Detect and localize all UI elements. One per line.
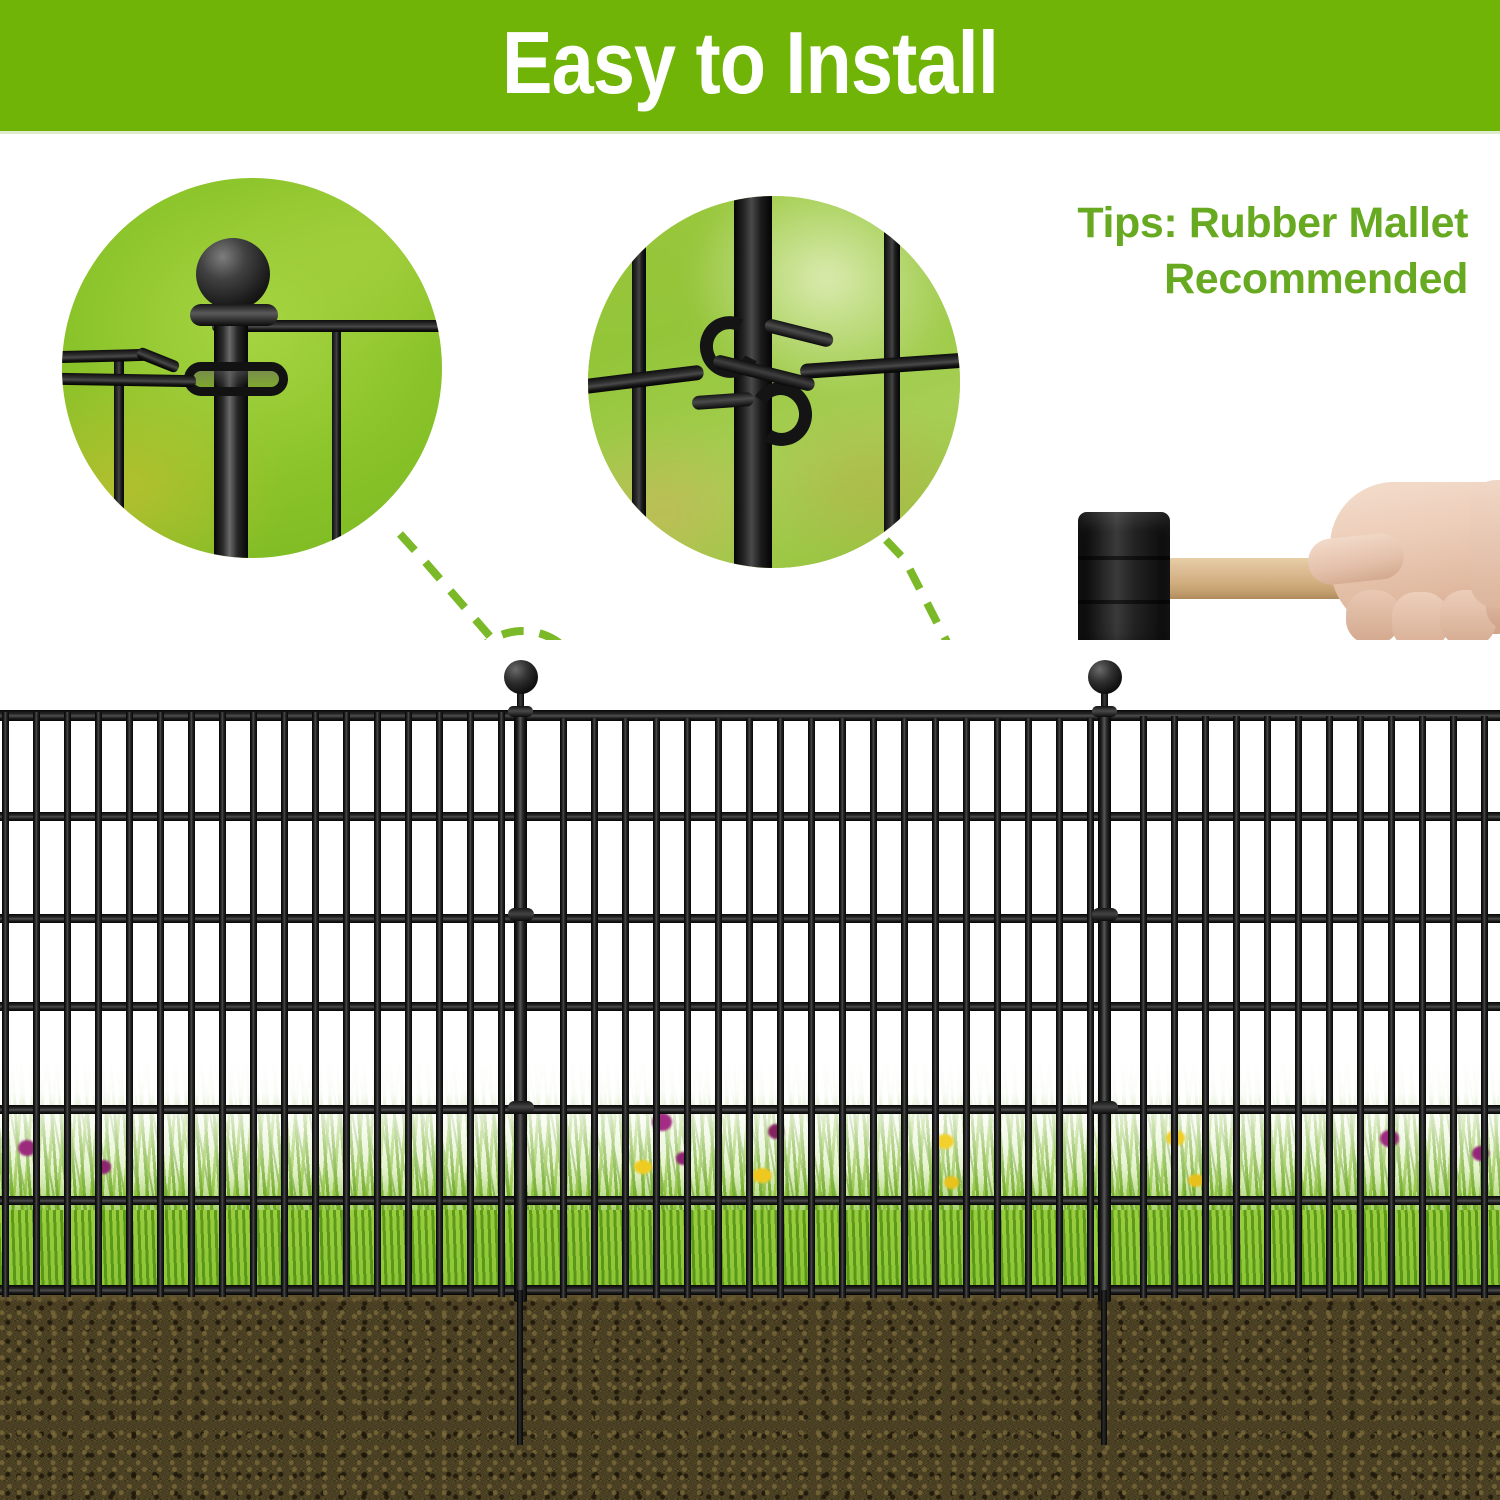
- fence-picket: [1056, 718, 1063, 1298]
- tips-line-2: Recommended: [908, 252, 1468, 308]
- fence-picket: [1171, 716, 1178, 1298]
- callout-1-post-shaft: [214, 296, 248, 558]
- hand-wrist: [1470, 480, 1500, 608]
- callout-2-right-picket: [884, 222, 900, 552]
- fence-picket: [405, 712, 412, 1297]
- product-infographic: Easy to Install Tips: Rubber Mallet Reco…: [0, 0, 1500, 1500]
- fence-picket: [1295, 716, 1302, 1298]
- fence-picket: [1233, 716, 1240, 1298]
- tips-line-1: Tips: Rubber Mallet: [1077, 199, 1468, 247]
- fence-post-ball-finial: [504, 660, 538, 694]
- fence-picket: [839, 718, 846, 1298]
- fence-picket: [932, 718, 939, 1298]
- fence-ground-stake: [517, 1290, 523, 1445]
- fence-picket: [653, 718, 660, 1298]
- fence-picket: [994, 718, 1001, 1298]
- fence-picket: [901, 718, 908, 1298]
- header-banner: Easy to Install: [0, 0, 1500, 131]
- mallet-head-band-top: [1078, 556, 1170, 560]
- callout-2-center-post: [734, 196, 772, 568]
- callout-1-left-picket: [114, 356, 124, 558]
- fence-picket: [188, 712, 195, 1297]
- fence-picket: [715, 718, 722, 1298]
- callout-1-lower-loop: [184, 362, 288, 396]
- fence-picket: [777, 718, 784, 1298]
- fence-picket: [343, 712, 350, 1297]
- fence-post-ball-finial: [1088, 660, 1122, 694]
- callout-1-upper-collar: [190, 304, 278, 326]
- fence-panel-s-hook: [1092, 1101, 1118, 1114]
- fence-post-collar: [1092, 706, 1117, 717]
- fence-picket: [219, 712, 226, 1297]
- fence-picket: [1087, 718, 1094, 1298]
- tips-text: Tips: Rubber Mallet Recommended: [908, 196, 1468, 308]
- fence-post: [1098, 712, 1111, 1302]
- fence-picket: [1450, 716, 1457, 1298]
- fence-picket: [684, 718, 691, 1298]
- fence-picket: [157, 712, 164, 1297]
- fence-picket: [2, 712, 9, 1297]
- fence-picket: [312, 712, 319, 1297]
- callout-circle-post-finial: [62, 178, 442, 558]
- fence-picket: [870, 718, 877, 1298]
- callout-1-right-picket: [332, 326, 341, 558]
- fence-post-collar: [508, 706, 533, 717]
- fence-picket: [591, 718, 598, 1298]
- callout-1-ball-finial: [196, 238, 270, 310]
- fence-picket: [1419, 716, 1426, 1298]
- callout-1-upper-rail-left: [62, 349, 148, 363]
- fence-panel-s-hook: [508, 1101, 534, 1114]
- fence-ground-stake: [1101, 1290, 1107, 1445]
- fence-picket: [963, 718, 970, 1298]
- mallet-head: [1078, 512, 1170, 660]
- fence-picket: [498, 712, 505, 1297]
- page-title: Easy to Install: [105, 0, 1395, 131]
- fence-picket: [1202, 716, 1209, 1298]
- fence-picket: [467, 712, 474, 1297]
- fence-picket: [622, 718, 629, 1298]
- fence-picket: [64, 712, 71, 1297]
- fence-picket: [250, 712, 257, 1297]
- banner-divider: [0, 131, 1500, 134]
- fence-picket: [560, 718, 567, 1298]
- fence-picket: [33, 712, 40, 1297]
- callout-circle-s-hook: [588, 196, 960, 568]
- fence-picket: [1326, 716, 1333, 1298]
- fence-scene: [0, 640, 1500, 1500]
- fence-picket: [746, 718, 753, 1298]
- callout-1-lower-rail-left: [62, 373, 196, 387]
- fence-picket: [1025, 718, 1032, 1298]
- fence: [0, 640, 1500, 1500]
- fence-picket: [126, 712, 133, 1297]
- fence-picket: [1357, 716, 1364, 1298]
- fence-picket: [1481, 716, 1488, 1298]
- fence-picket: [374, 712, 381, 1297]
- mallet-head-band-bottom: [1078, 600, 1170, 604]
- fence-picket: [436, 712, 443, 1297]
- fence-panel-s-hook: [508, 908, 534, 921]
- fence-picket: [1140, 716, 1147, 1298]
- fence-picket: [1264, 716, 1271, 1298]
- fence-picket: [281, 712, 288, 1297]
- fence-post: [514, 712, 527, 1302]
- fence-panel-s-hook: [1092, 908, 1118, 921]
- fence-picket: [808, 718, 815, 1298]
- fence-picket: [1388, 716, 1395, 1298]
- fence-picket: [95, 712, 102, 1297]
